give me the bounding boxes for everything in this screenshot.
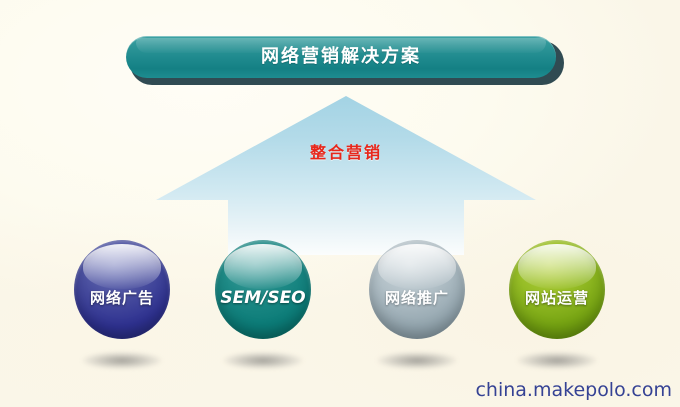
sphere-item-0[interactable]: 网络广告 xyxy=(74,240,174,360)
sphere-highlight xyxy=(378,244,457,290)
site-watermark: china.makepolo.com xyxy=(475,379,672,401)
sphere-ball[interactable]: 网络推广 xyxy=(369,240,465,339)
sphere-highlight xyxy=(224,244,303,290)
sphere-item-2[interactable]: 网络推广 xyxy=(369,240,469,360)
integration-arrow: 整合营销 xyxy=(140,93,552,255)
sphere-ball[interactable]: SEM/SEO xyxy=(215,240,311,339)
sphere-label: 网络推广 xyxy=(385,287,449,308)
title-banner: 网络营销解决方案 xyxy=(126,36,560,82)
sphere-item-3[interactable]: 网站运营 xyxy=(509,240,609,360)
slide-canvas: 网络营销解决方案 整合营销 网络广告 xyxy=(0,0,680,407)
sphere-label: SEM/SEO xyxy=(220,288,305,308)
sphere-item-1[interactable]: SEM/SEO xyxy=(215,240,315,360)
arrow-label: 整合营销 xyxy=(140,139,552,163)
sphere-label: 网站运营 xyxy=(525,287,589,308)
page-title: 网络营销解决方案 xyxy=(261,48,421,66)
sphere-drop-shadow xyxy=(223,352,303,369)
sphere-highlight xyxy=(518,244,597,290)
title-banner-pill: 网络营销解决方案 xyxy=(126,36,556,78)
sphere-ball[interactable]: 网站运营 xyxy=(509,240,605,339)
sphere-ball[interactable]: 网络广告 xyxy=(74,240,170,339)
sphere-drop-shadow xyxy=(377,352,457,369)
sphere-drop-shadow xyxy=(517,352,597,369)
sphere-label: 网络广告 xyxy=(90,287,154,308)
sphere-drop-shadow xyxy=(82,352,162,369)
arrow-polygon xyxy=(156,96,536,255)
arrow-shape xyxy=(140,93,552,255)
sphere-highlight xyxy=(83,244,162,290)
